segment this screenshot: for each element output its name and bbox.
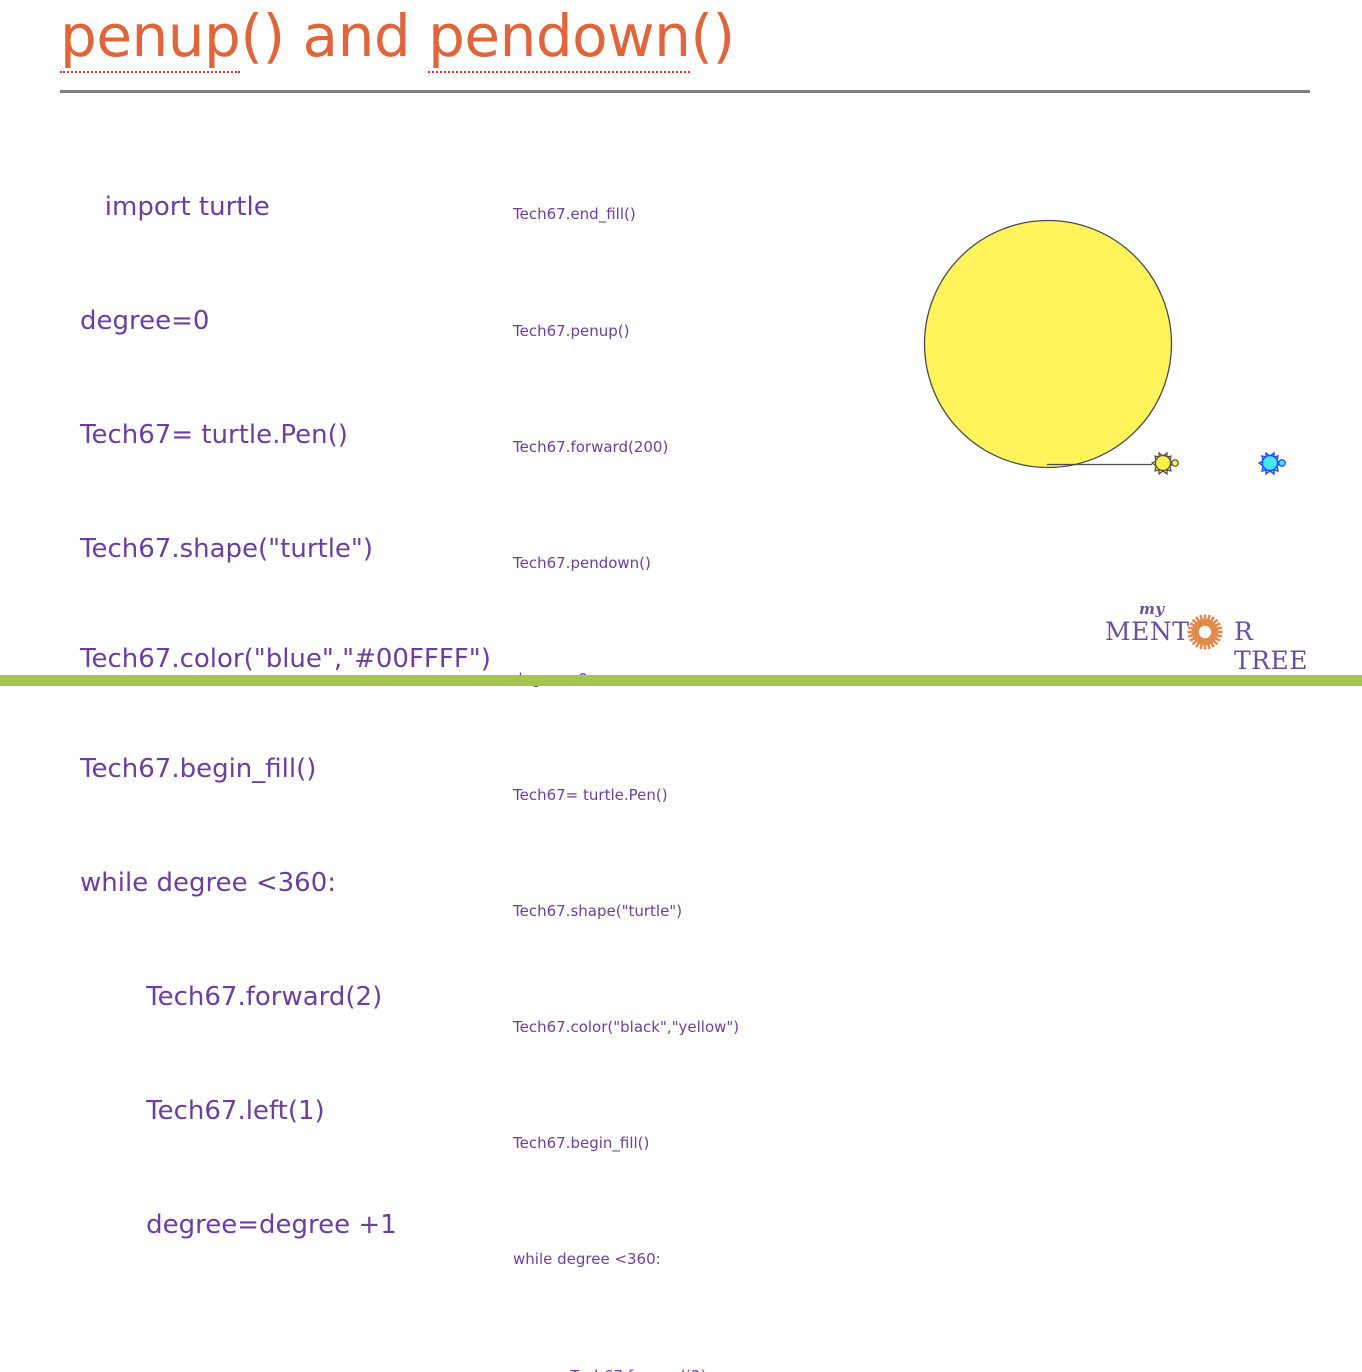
yellow-turtle-icon bbox=[1152, 453, 1178, 474]
code-block-left: import turtle degree=0 Tech67= turtle.Pe… bbox=[80, 112, 500, 1282]
code-line: while degree <360: bbox=[513, 1240, 873, 1279]
code-line: Tech67.begin_fill() bbox=[513, 1124, 873, 1163]
code-line: degree=degree +1 bbox=[80, 1206, 500, 1244]
logo-mentor-text: MENT bbox=[1105, 617, 1189, 646]
title-word-penup: penup bbox=[60, 2, 240, 73]
code-line: Tech67.begin_fill() bbox=[80, 750, 500, 788]
code-block-middle: Tech67.end_fill() Tech67.penup() Tech67.… bbox=[513, 118, 873, 1372]
brand-logo: my MENT bbox=[1105, 600, 1320, 652]
title-divider bbox=[60, 90, 1310, 93]
code-line: Tech67= turtle.Pen() bbox=[80, 416, 500, 454]
code-line: Tech67.penup() bbox=[513, 312, 873, 351]
code-line: Tech67.forward(200) bbox=[513, 428, 873, 467]
turtle-graphics-output bbox=[890, 190, 1310, 490]
logo-tree-text: R TREE bbox=[1234, 617, 1320, 675]
code-line: Tech67.shape("turtle") bbox=[80, 530, 500, 568]
title-conjunction: () and bbox=[240, 2, 428, 70]
title-parens: () bbox=[690, 2, 734, 70]
logo-my-text: my bbox=[1139, 600, 1165, 618]
code-line: Tech67.left(1) bbox=[80, 1092, 500, 1130]
yellow-circle bbox=[925, 221, 1172, 468]
code-line: Tech67.color("black","yellow") bbox=[513, 1008, 873, 1047]
page-title: penup() and pendown() bbox=[60, 2, 735, 70]
code-line: while degree <360: bbox=[80, 864, 500, 902]
code-line: Tech67.forward(2) bbox=[80, 978, 500, 1016]
cyan-turtle-icon bbox=[1259, 453, 1285, 474]
footer-accent-bar bbox=[0, 675, 1362, 686]
title-word-pendown: pendown bbox=[428, 2, 690, 73]
code-line: Tech67.color("blue","#00FFFF") bbox=[80, 644, 500, 674]
code-line: Tech67.end_fill() bbox=[513, 195, 873, 234]
code-line: Tech67.shape("turtle") bbox=[513, 892, 873, 931]
code-line: Tech67.forward(2) bbox=[513, 1357, 873, 1372]
code-line: Tech67.pendown() bbox=[513, 544, 873, 583]
sunburst-icon bbox=[1187, 614, 1223, 650]
code-line: Tech67= turtle.Pen() bbox=[513, 776, 873, 815]
code-line: degree=0 bbox=[80, 302, 500, 340]
code-line: import turtle bbox=[80, 188, 500, 226]
